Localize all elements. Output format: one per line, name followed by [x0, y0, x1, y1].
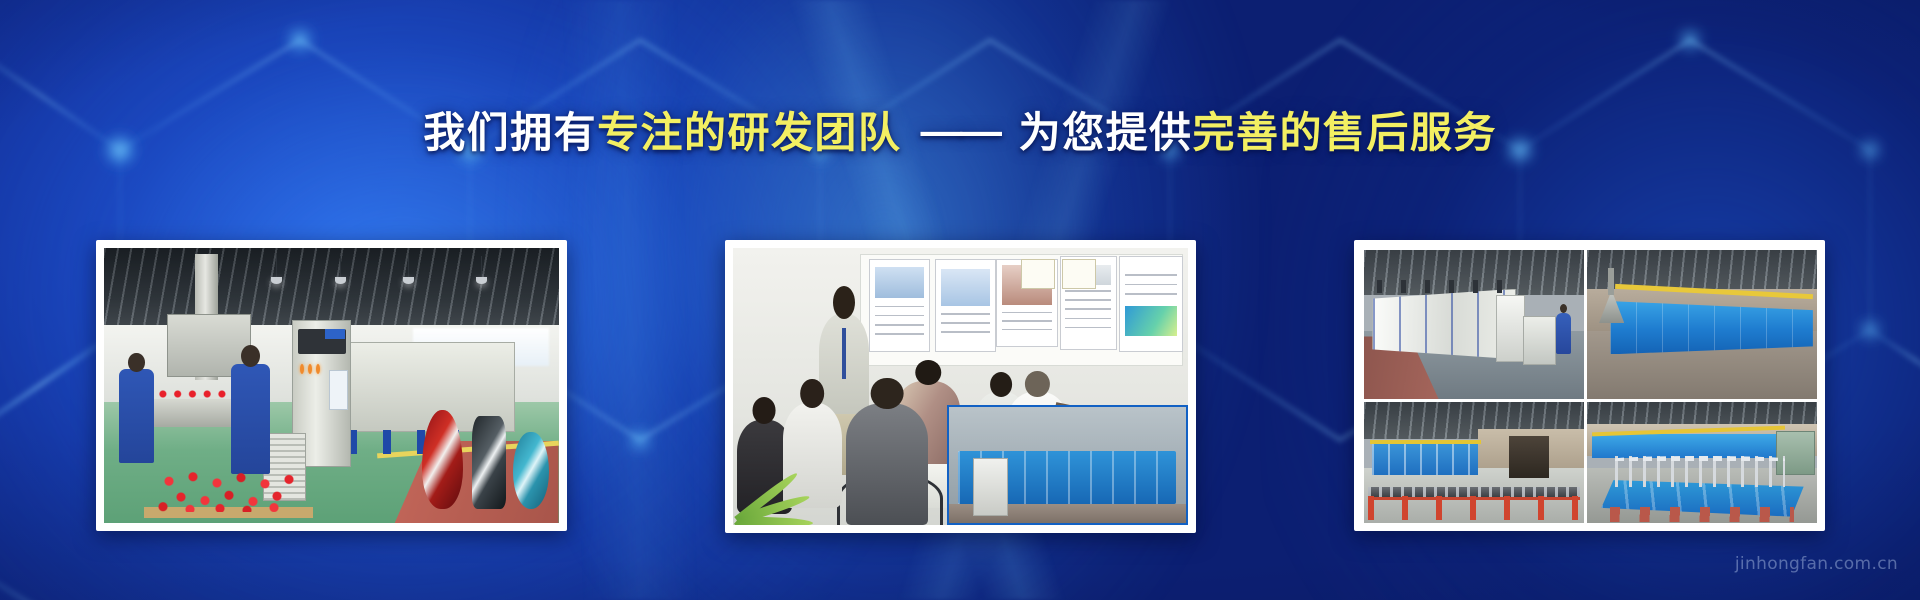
headline-space — [901, 109, 914, 156]
photo-gallery: Glass bulb production line with workers … — [0, 224, 1920, 549]
photo-card-team-meeting[interactable]: Engineering team meeting in front of tec… — [725, 240, 1196, 533]
headline-dash: —— — [915, 110, 1006, 152]
photo-card-equipment-collage[interactable]: Four-panel collage of annealing furnaces… — [1354, 240, 1825, 531]
photo-card-production-line[interactable]: Glass bulb production line with workers … — [96, 240, 567, 531]
collage-panel-furnace-line — [1364, 250, 1585, 399]
headline-segment-5: 完善的售后服务 — [1193, 109, 1497, 156]
photo-team-meeting-image — [733, 248, 1188, 525]
headline-segment-1: 我们拥有 — [423, 109, 597, 156]
collage-panel-hanging-line — [1587, 402, 1816, 523]
photo-equipment-collage-image — [1362, 248, 1817, 523]
promo-banner: 我们拥有专注的研发团队 —— 为您提供完善的售后服务 — [0, 0, 1920, 600]
collage-panel-blue-tunnel — [1587, 250, 1816, 399]
collage-panel-conveyor-chain — [1364, 402, 1585, 523]
page-title: 我们拥有专注的研发团队 —— 为您提供完善的售后服务 — [0, 112, 1920, 154]
headline-segment-2: 专注的研发团队 — [597, 109, 901, 156]
headline-segment-4: 为您提供 — [1005, 109, 1192, 156]
site-watermark: jinhongfan.com.cn — [1735, 554, 1898, 574]
photo-production-line-image — [104, 248, 559, 523]
